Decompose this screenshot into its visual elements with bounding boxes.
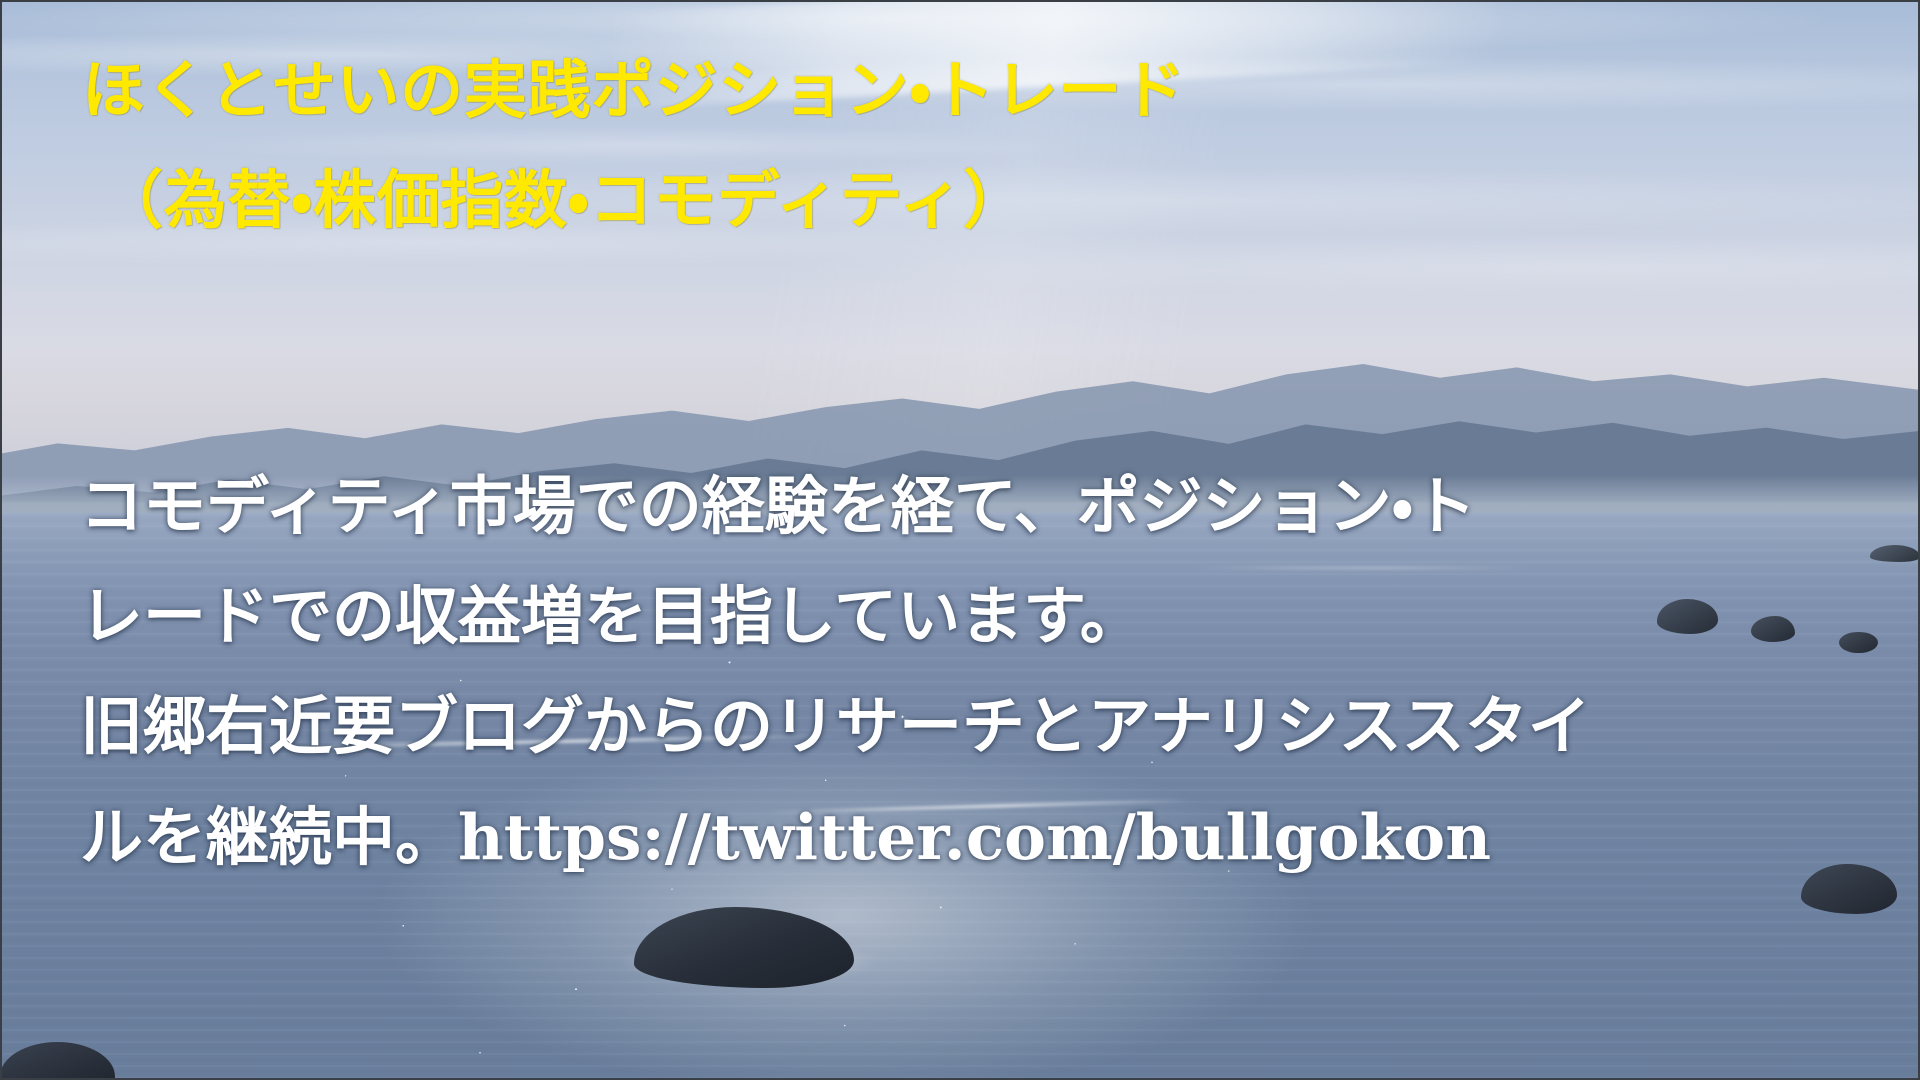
description-line-2: レードでの収益増を目指しています。 <box>80 562 1880 672</box>
description-line-4-prefix: ルを継続中。 <box>80 801 458 874</box>
description-line-1: コモディティ市場での経験を経て、ポジション・ト <box>80 452 1880 562</box>
banner-text-stack: ほくとせいの実践ポジション・トレード （為替・株価指数・コモディティ） コモディ… <box>0 0 1920 1080</box>
banner-title-line-2: （為替・株価指数・コモディティ） <box>100 168 1027 234</box>
banner-title-line-1: ほくとせいの実践ポジション・トレード <box>82 58 1186 124</box>
twitter-profile-link[interactable]: https://twitter.com/bullgokon <box>458 800 1491 874</box>
description-line-4: ルを継続中。https://twitter.com/bullgokon <box>80 782 1880 892</box>
description-line-3: 旧郷右近要ブログからのリサーチとアナリシススタイ <box>80 672 1880 782</box>
banner-description: コモディティ市場での経験を経て、ポジション・ト レードでの収益増を目指しています… <box>80 452 1880 892</box>
profile-banner-image: ほくとせいの実践ポジション・トレード （為替・株価指数・コモディティ） コモディ… <box>0 0 1920 1080</box>
